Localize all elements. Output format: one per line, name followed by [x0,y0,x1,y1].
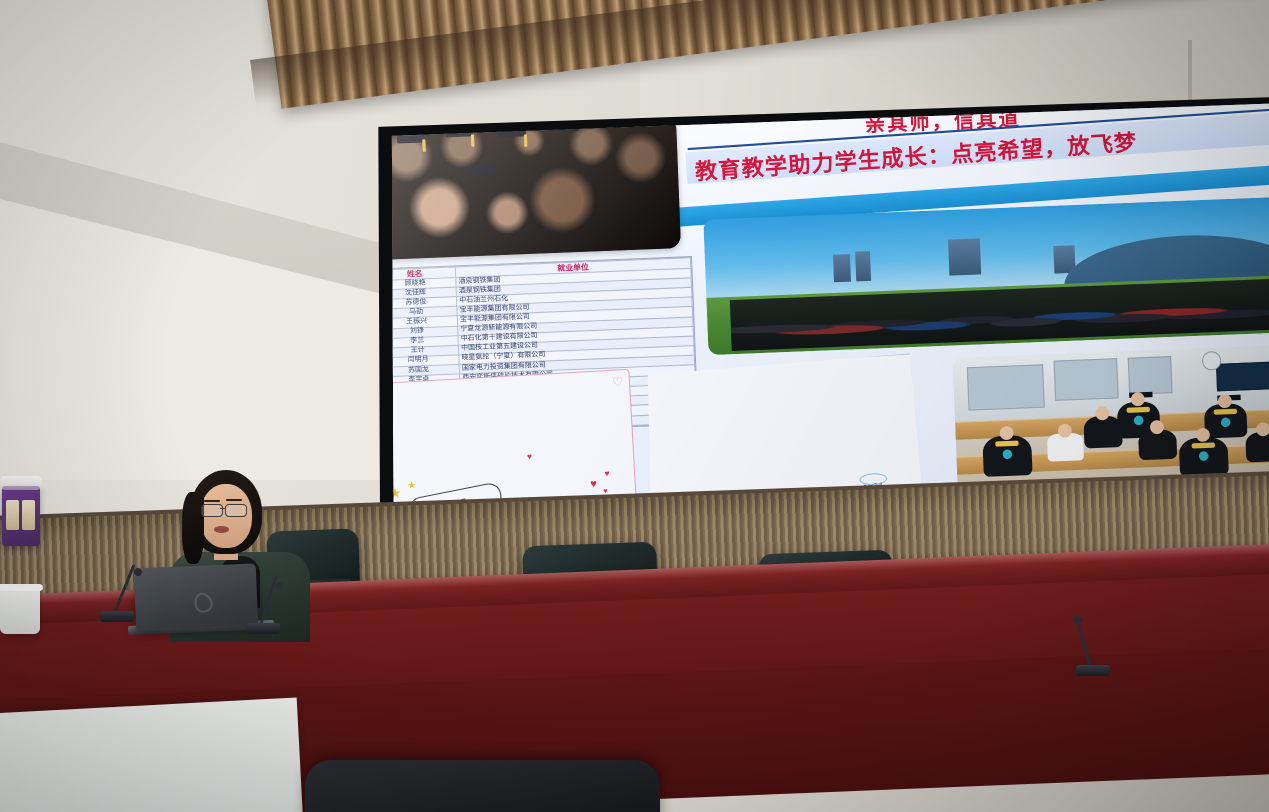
presenter-laptop[interactable] [134,563,258,630]
screenshot-root: 亲其师，信其道 教育教学助力学生成长：点亮希望，放飞梦 [0,0,1269,812]
waste-bin[interactable] [0,588,40,634]
snack-package-top [0,476,42,490]
mic-center[interactable] [246,576,280,634]
presenter-hair-side [182,492,204,564]
snack-package[interactable] [2,486,40,546]
eyeglasses-right-lens [225,504,247,517]
foreground-table [0,697,303,812]
presenter-mouth [214,526,229,533]
foreground-chair-back [305,760,660,812]
mic-right[interactable] [1076,612,1110,676]
class-group-photo-sports-field [703,197,1269,355]
graduation-ceremony-photo [372,117,681,260]
laptop-logo [191,590,215,615]
eyeglasses-bridge [220,508,226,509]
mic-left[interactable] [100,560,134,622]
eyeglasses-left-lens [201,504,223,517]
